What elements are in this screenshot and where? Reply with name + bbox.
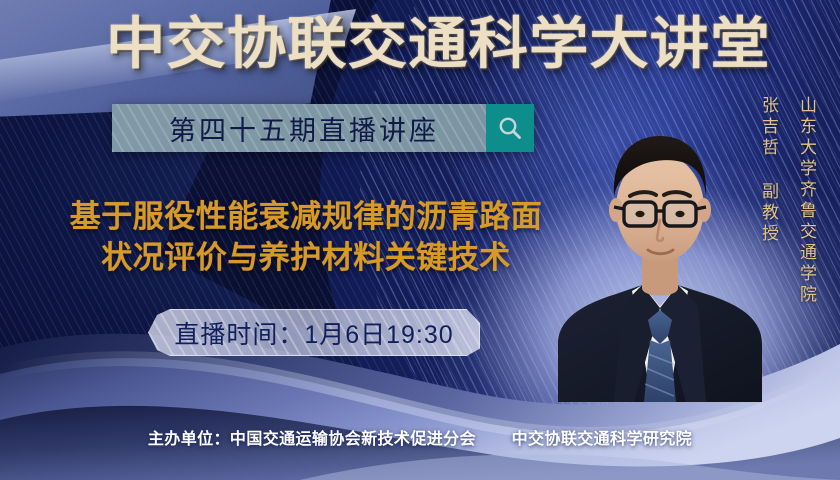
live-time-badge: 直播时间：1月6日19:30 xyxy=(148,309,480,356)
live-time-label: 直播时间：1月6日19:30 xyxy=(174,315,453,351)
footer-organizer-primary: 主办单位：中国交通运输协会新技术促进分会 xyxy=(148,431,476,448)
episode-banner: 第四十五期直播讲座 xyxy=(112,104,534,152)
lecture-title-line2: 状况评价与养护材料关键技术 xyxy=(26,237,586,278)
live-lecture-poster: 中交协联交通科学大讲堂 第四十五期直播讲座 基于服役性能衰减规律的沥青路面 状况… xyxy=(0,0,840,480)
lecture-title-line1: 基于服役性能衰减规律的沥青路面 xyxy=(70,199,543,234)
lecture-title: 基于服役性能衰减规律的沥青路面 状况评价与养护材料关键技术 xyxy=(26,196,586,278)
speaker-name-title: 张吉哲 副教授 xyxy=(757,96,780,306)
footer-organizers: 主办单位：中国交通运输协会新技术促进分会 中交协联交通科学研究院 xyxy=(0,425,840,449)
search-icon xyxy=(497,115,523,141)
episode-label: 第四十五期直播讲座 xyxy=(112,104,486,152)
page-title: 中交协联交通科学大讲堂 xyxy=(106,10,742,80)
speaker-organization: 山东大学齐鲁交通学院 xyxy=(795,96,818,326)
footer-organizer-secondary: 中交协联交通科学研究院 xyxy=(512,431,692,448)
search-button[interactable] xyxy=(486,104,534,152)
speaker-portrait xyxy=(556,92,764,402)
